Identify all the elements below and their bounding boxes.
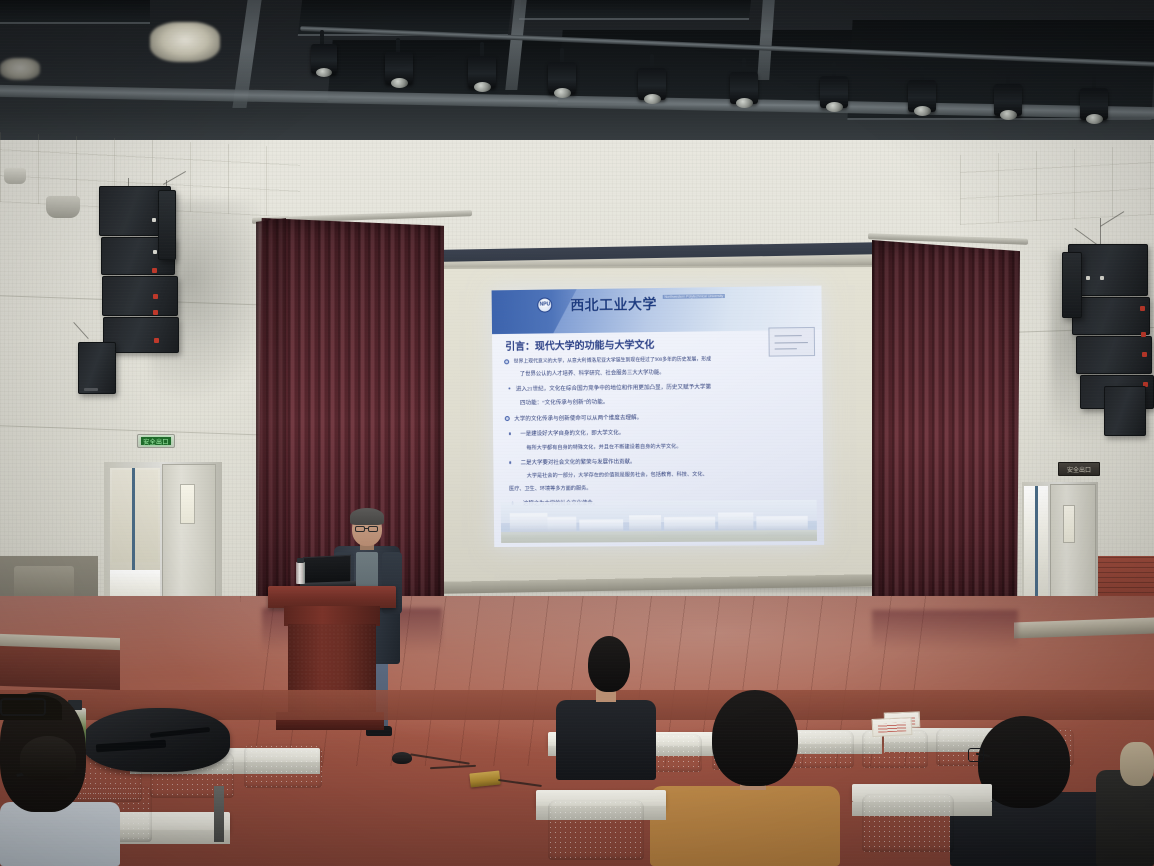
speaker-led [1140,306,1145,311]
paper-note [872,717,913,737]
stage-light-lens [644,94,661,104]
glasses-bridge [365,528,368,529]
campus-photo [500,500,817,544]
ceiling-light-panel [150,22,220,62]
podium-top [268,586,396,608]
bullet-marker-dot-icon [509,461,512,464]
curtain-reflection [872,610,1018,650]
bullet-marker-ring-icon [504,360,509,365]
stage-light-lens [736,98,753,108]
line-array-speaker [1072,297,1150,335]
exit-sign-right: 安全出口 [1058,462,1100,476]
ceiling-bay [0,0,150,24]
bottle-cap [297,558,304,563]
seat[interactable] [862,794,954,852]
photo-building [548,516,576,532]
photo-building [579,519,623,532]
audience-body [650,786,840,866]
seat[interactable] [244,744,322,788]
speaker-led [152,218,156,222]
wall-light [46,196,80,218]
speaker-led [153,294,158,299]
photo-building [718,513,753,531]
exit-sign-panel: 安全出口 [141,437,172,445]
speaker-led [153,310,158,315]
window-outside-wall [112,470,158,562]
bullet-marker-dot-icon [508,387,511,390]
podium-neck [284,606,380,626]
university-name-en: Northwestern Polytechnical University [662,294,725,299]
audience-head [1120,742,1154,786]
stage-light-lens [826,102,843,112]
stage-light-lens [1000,110,1017,120]
audience-glasses-lens [0,698,46,716]
wireless-mouse-on-floor [392,752,412,764]
audience-head [712,690,798,786]
line-array-speaker [102,276,178,316]
photo-building [757,515,808,530]
photo-building [510,513,548,532]
photo-building [630,515,662,532]
window-mullion [1035,486,1038,606]
speaker-led [1086,276,1090,280]
stage-riser-left [0,646,120,690]
speaker-led [1142,352,1147,357]
wall-light [4,168,26,184]
stage-light-lens [316,68,332,77]
lecture-hall-scene: 安全出口 安全出口 N [0,0,1154,866]
speaker-badge [84,388,98,391]
bullet-marker-ring-icon [504,416,509,421]
speaker-led [1141,332,1146,337]
ceiling-bay [519,0,751,20]
ceiling-light-panel [0,58,40,80]
speaker-led [153,250,157,254]
stage-light-lens [914,106,931,116]
audience-glasses-lens [968,748,984,762]
projected-slide: NPU 西北工业大学 Northwestern Polytechnical Un… [492,286,825,547]
wall-speaker [78,342,116,394]
speaker-side-panel [158,190,176,260]
presenter-glasses [368,526,378,532]
stage-light-lens [474,82,491,92]
photo-building [664,517,715,531]
stage-curtain-right [872,240,1020,612]
audience-body [556,700,656,780]
door-window-right [1063,505,1075,543]
exit-sign-left: 安全出口 [137,434,175,448]
water-bottle [296,562,305,584]
wall-speaker [1104,386,1146,436]
speaker-led [154,338,159,343]
seat-frame [214,786,224,842]
university-name: 西北工业大学 [570,294,657,315]
audience-body [0,802,120,866]
audience-head [20,736,76,780]
slide-header-accent [492,289,578,334]
stage-light-lens [554,88,571,98]
line-array-speaker [1076,336,1152,374]
presenter-glasses [355,526,365,532]
exit-sign-label: 安全出口 [1067,465,1091,474]
speaker-led [152,268,157,273]
speaker-led [1100,276,1104,280]
stage-light-lens [1086,114,1103,124]
university-logo-mark: NPU [537,297,552,312]
seat[interactable] [548,800,644,860]
presenter-hair [350,508,384,525]
audience-head [588,636,630,692]
ceiling-tiles-right [960,145,1154,225]
stage-light-lens [391,78,408,88]
speaker-rigging-wire [1100,218,1101,246]
bullet-marker-dot-icon [508,432,511,435]
exit-sign-label: 安全出口 [143,437,169,446]
door-window-left [180,484,195,524]
speaker-side-panel [1062,252,1082,318]
slide-title: 引言：现代大学的功能与大学文化 [505,336,654,353]
stage-curtain-left-edge [256,218,286,610]
slide-bullet-list: 世界上现代意义的大学，从意大利博洛尼亚大学诞生到现在经过了900多年的历史发展，… [504,352,814,511]
